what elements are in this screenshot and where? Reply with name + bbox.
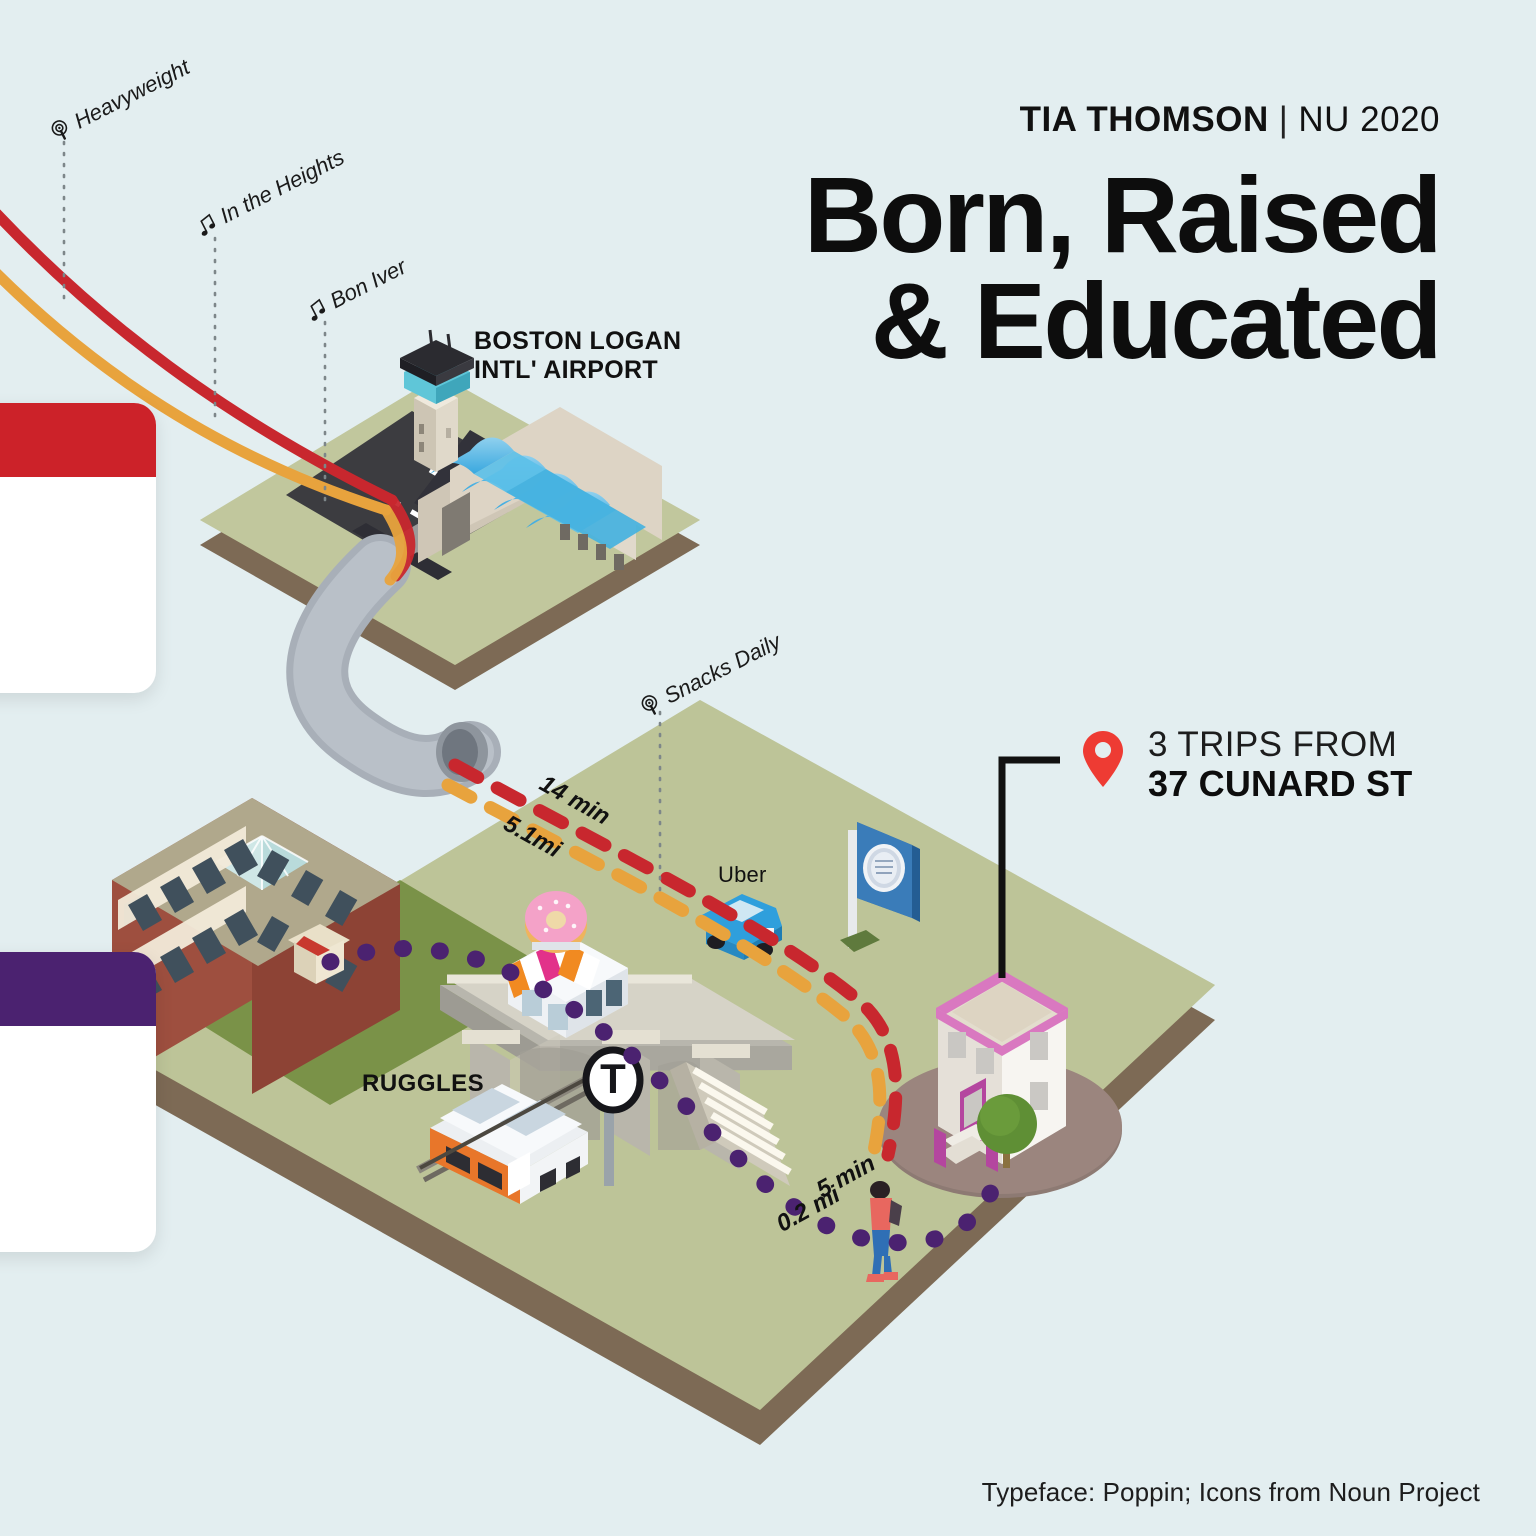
uber-label: Uber	[718, 862, 767, 888]
walk-card-number: 0	[0, 1144, 132, 1178]
byline-separator: |	[1269, 100, 1299, 139]
title-line-1: Born, Raised	[804, 162, 1440, 268]
flight-card: NCH, CA 93973 F $432 2	[0, 403, 156, 693]
flight-card-row: F $432	[0, 596, 132, 630]
cohort-label: NU 2020	[1298, 100, 1440, 139]
callout-line-2: 37 CUNARD ST	[1148, 764, 1412, 804]
credit-footer: Typeface: Poppin; Icons from Noun Projec…	[982, 1477, 1480, 1508]
infographic-canvas: TIA THOMSON|NU 2020 Born, Raised & Educa…	[0, 0, 1536, 1536]
byline: TIA THOMSON|NU 2020	[804, 100, 1440, 140]
walk-card-body: 0 $0	[0, 1026, 156, 1252]
flight-card-accent	[0, 403, 156, 477]
station-label: RUGGLES	[362, 1070, 484, 1098]
airport-label-line-2: INTL' AIRPORT	[474, 356, 681, 385]
callout-line-1: 3 TRIPS FROM	[1148, 725, 1412, 764]
title-line-2: & Educated	[804, 268, 1440, 374]
walk-card-accent	[0, 952, 156, 1026]
t-sign-letter: T	[597, 1055, 629, 1103]
author-name: TIA THOMSON	[1020, 100, 1269, 139]
walk-card-row: $0	[0, 1194, 132, 1228]
page-title: Born, Raised & Educated	[804, 162, 1440, 374]
callout-leader	[1002, 760, 1060, 978]
airport-label: BOSTON LOGAN INTL' AIRPORT	[474, 327, 681, 385]
header-block: TIA THOMSON|NU 2020 Born, Raised & Educa…	[804, 100, 1440, 374]
trips-callout: 3 TRIPS FROM 37 CUNARD ST	[1148, 725, 1412, 805]
airport-label-line-1: BOSTON LOGAN	[474, 327, 681, 356]
map-pin-icon	[1082, 730, 1124, 788]
flight-card-footnote: 2	[0, 646, 132, 669]
flight-card-number: 93973	[0, 546, 132, 580]
flight-card-city: NCH, CA	[0, 499, 132, 538]
flight-card-body: NCH, CA 93973 F $432 2	[0, 477, 156, 693]
walk-card: 0 $0	[0, 952, 156, 1252]
